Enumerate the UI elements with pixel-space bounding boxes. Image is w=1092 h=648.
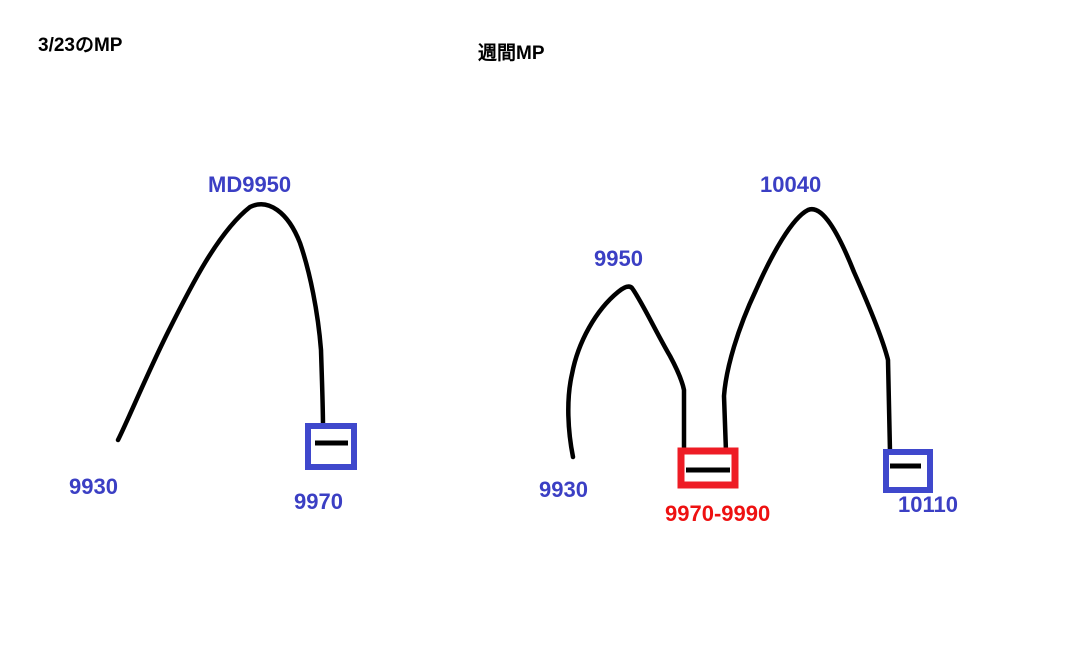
right-start-label: 9930	[539, 479, 588, 501]
right-mp-curve-first-hump	[568, 287, 684, 457]
left-end-label: 9970	[294, 491, 343, 513]
right-middle-box-label: 9970-9990	[665, 503, 770, 525]
right-mp-curve-second-hump	[724, 209, 890, 452]
right-first-peak-label: 9950	[594, 248, 643, 270]
left-mp-curve	[118, 204, 323, 440]
right-chart-title: 週間MP	[478, 44, 545, 63]
right-end-label: 10110	[898, 494, 958, 516]
left-end-box	[308, 426, 354, 467]
left-start-label: 9930	[69, 476, 118, 498]
left-chart-title: 3/23のMP	[38, 36, 122, 55]
diagram-canvas: 3/23のMP 週間MP MD9950 9930 9970 9950 10040…	[0, 0, 1092, 648]
left-peak-label: MD9950	[208, 174, 291, 196]
right-second-peak-label: 10040	[760, 174, 821, 196]
sketch-layer	[0, 0, 1092, 648]
right-middle-box	[681, 451, 735, 485]
right-end-box	[886, 452, 930, 490]
